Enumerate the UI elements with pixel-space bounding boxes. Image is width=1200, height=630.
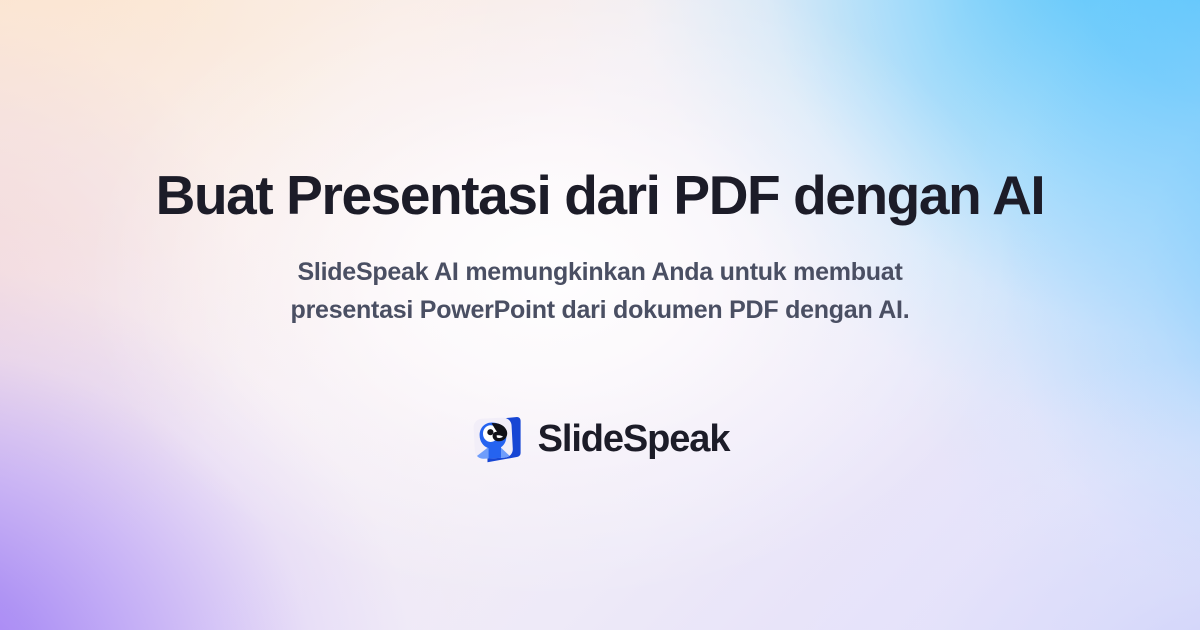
page-title: Buat Presentasi dari PDF dengan AI — [156, 165, 1045, 227]
page-subtitle: SlideSpeak AI memungkinkan Anda untuk me… — [291, 253, 910, 329]
page-subtitle-line-1: SlideSpeak AI memungkinkan Anda untuk me… — [291, 253, 910, 291]
brand-wordmark: SlideSpeak — [538, 420, 730, 458]
card-content: Buat Presentasi dari PDF dengan AI Slide… — [100, 165, 1100, 465]
og-share-card: Buat Presentasi dari PDF dengan AI Slide… — [0, 0, 1200, 630]
page-subtitle-line-2: presentasi PowerPoint dari dokumen PDF d… — [291, 291, 910, 329]
brand-logo-lockup: SlideSpeak — [471, 413, 730, 465]
slidespeak-parrot-icon — [471, 413, 523, 465]
